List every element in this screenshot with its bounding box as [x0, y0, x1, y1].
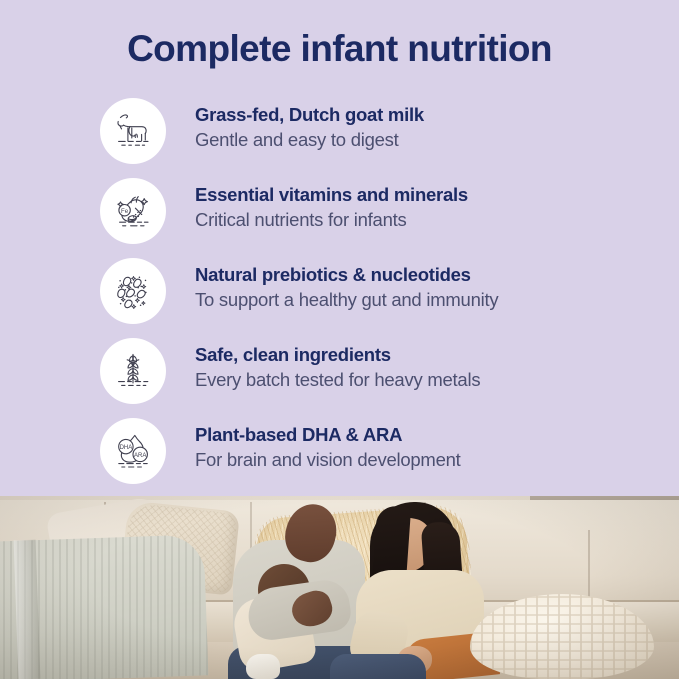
- feature-row: Grass-fed, Dutch goat milk Gentle and ea…: [0, 98, 679, 178]
- feature-subtitle: Every batch tested for heavy metals: [195, 368, 679, 393]
- goat-icon: [100, 98, 166, 164]
- product-infographic: Complete infant nutrition: [0, 0, 679, 679]
- icon-label-fe: Fe: [121, 208, 129, 215]
- feature-row: Fe Essential vitamins and minerals Criti…: [0, 178, 679, 258]
- dha-ara-droplet-icon: DHA ARA: [100, 418, 166, 484]
- probiotic-bacteria-icon: [100, 258, 166, 324]
- feature-title: Essential vitamins and minerals: [195, 183, 679, 207]
- feature-text: Natural prebiotics & nucleotides To supp…: [195, 258, 679, 313]
- page-title: Complete infant nutrition: [0, 28, 679, 70]
- feature-subtitle: Critical nutrients for infants: [195, 208, 679, 233]
- feature-subtitle: Gentle and easy to digest: [195, 128, 679, 153]
- vitamin-capsule-icon: Fe: [100, 178, 166, 244]
- icon-label-ara: ARA: [134, 453, 146, 459]
- lifestyle-photo: [0, 496, 679, 679]
- feature-subtitle: To support a healthy gut and immunity: [195, 288, 679, 313]
- feature-list: Grass-fed, Dutch goat milk Gentle and ea…: [0, 98, 679, 498]
- feature-text: Safe, clean ingredients Every batch test…: [195, 338, 679, 393]
- feature-title: Grass-fed, Dutch goat milk: [195, 103, 679, 127]
- feature-title: Natural prebiotics & nucleotides: [195, 263, 679, 287]
- info-panel: Complete infant nutrition: [0, 0, 679, 496]
- feature-text: Plant-based DHA & ARA For brain and visi…: [195, 418, 679, 473]
- icon-label-dha: DHA: [120, 445, 133, 451]
- photo-vignette: [0, 496, 679, 679]
- feature-text: Essential vitamins and minerals Critical…: [195, 178, 679, 233]
- feature-title: Safe, clean ingredients: [195, 343, 679, 367]
- wheat-stalk-icon: [100, 338, 166, 404]
- feature-text: Grass-fed, Dutch goat milk Gentle and ea…: [195, 98, 679, 153]
- feature-title: Plant-based DHA & ARA: [195, 423, 679, 447]
- feature-row: Natural prebiotics & nucleotides To supp…: [0, 258, 679, 338]
- feature-row: DHA ARA Plant-based DHA & ARA For brain …: [0, 418, 679, 498]
- feature-subtitle: For brain and vision development: [195, 448, 679, 473]
- feature-row: Safe, clean ingredients Every batch test…: [0, 338, 679, 418]
